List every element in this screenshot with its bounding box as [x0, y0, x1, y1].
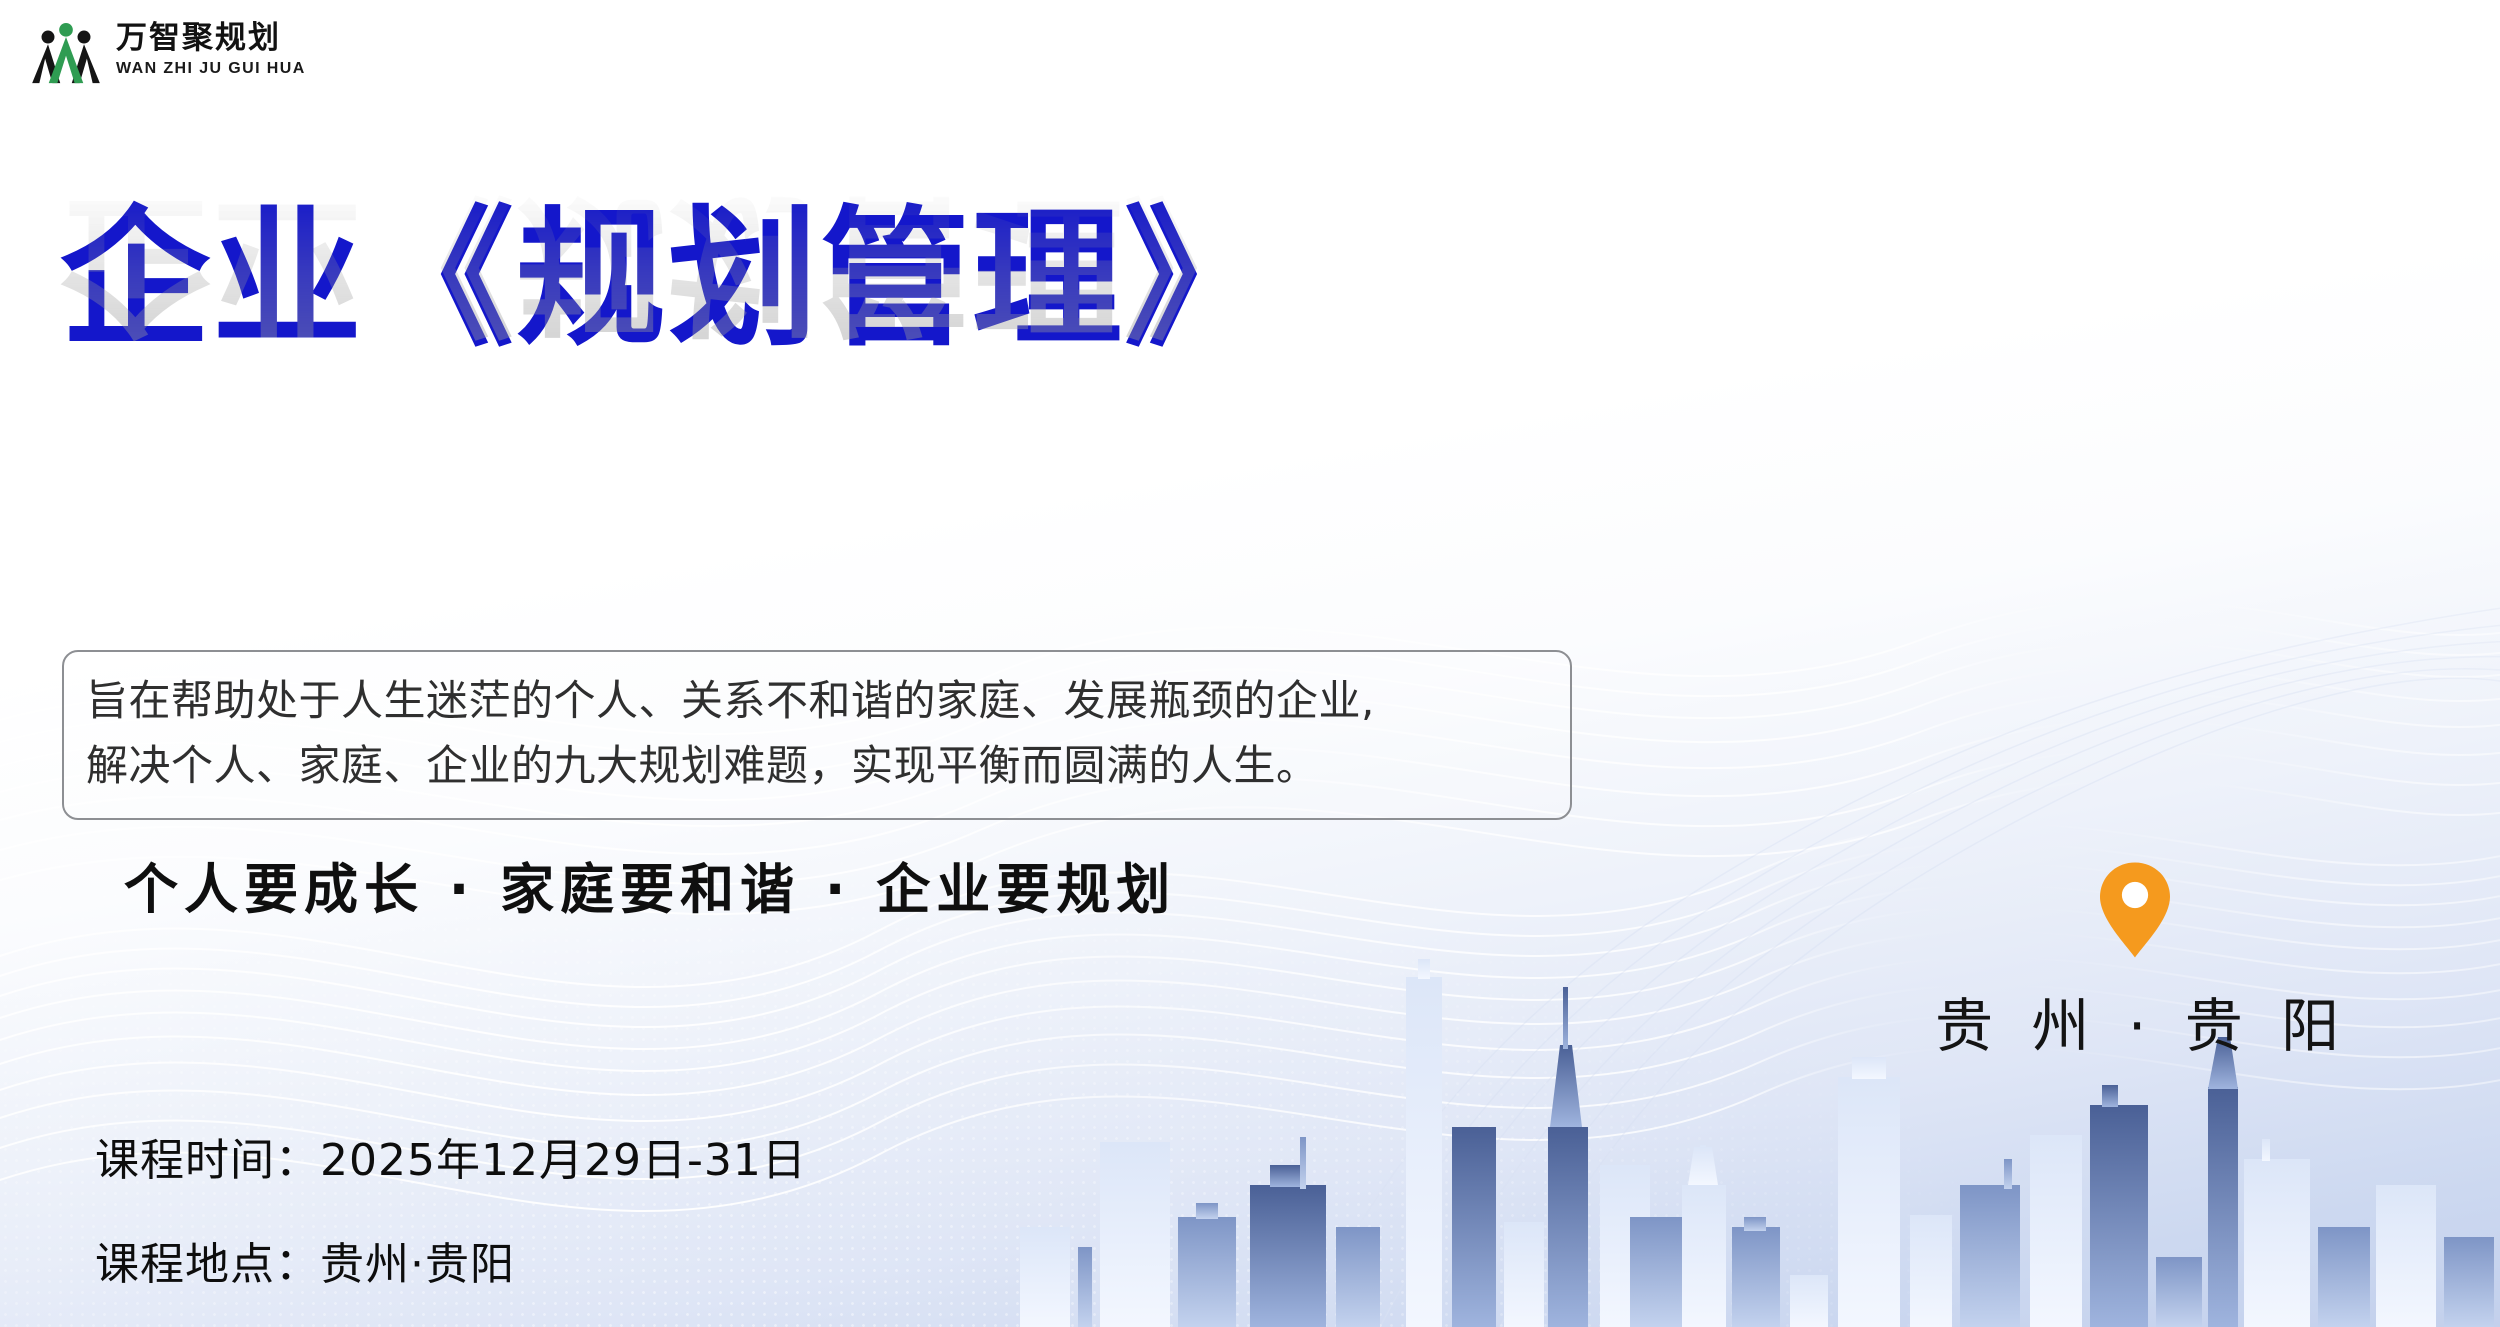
brand-name-cn: 万智聚规划: [116, 23, 306, 54]
location-badge: 贵 州 · 贵 阳: [1935, 860, 2335, 1063]
slogan-text: 个人要成长 · 家庭要和谐 · 企业要规划: [124, 845, 1176, 924]
location-label: 贵 州 · 贵 阳: [1935, 979, 2335, 1063]
description-box: 旨在帮助处于人生迷茫的个人、关系不和谐的家庭、发展瓶颈的企业, 解决个人、家庭、…: [62, 650, 1572, 820]
description-line-2: 解决个人、家庭、企业的九大规划难题，实现平衡而圆满的人生。: [86, 733, 1548, 798]
brand-name-pinyin: WAN ZHI JU GUI HUA: [116, 61, 306, 77]
hero-title-block: 企业《规划管理》 企业《规划管理》: [60, 196, 1620, 514]
description-line-1: 旨在帮助处于人生迷茫的个人、关系不和谐的家庭、发展瓶颈的企业,: [86, 668, 1548, 733]
three-people-logo-icon: [30, 14, 102, 86]
page-title-reflection: 企业《规划管理》: [60, 178, 1620, 346]
course-info-block: 课程时间：2025年12月29日-31日 课程地点：贵州·贵阳: [95, 1124, 807, 1292]
course-time-line: 课程时间：2025年12月29日-31日: [95, 1124, 807, 1188]
poster-canvas: 万智聚规划 WAN ZHI JU GUI HUA 企业《规划管理》 企业《规划管…: [0, 0, 2500, 1327]
course-place-line: 课程地点：贵州·贵阳: [95, 1228, 807, 1292]
map-pin-icon: [2097, 860, 2173, 960]
brand-logo: 万智聚规划 WAN ZHI JU GUI HUA: [30, 14, 306, 86]
brand-name-block: 万智聚规划 WAN ZHI JU GUI HUA: [116, 23, 306, 77]
